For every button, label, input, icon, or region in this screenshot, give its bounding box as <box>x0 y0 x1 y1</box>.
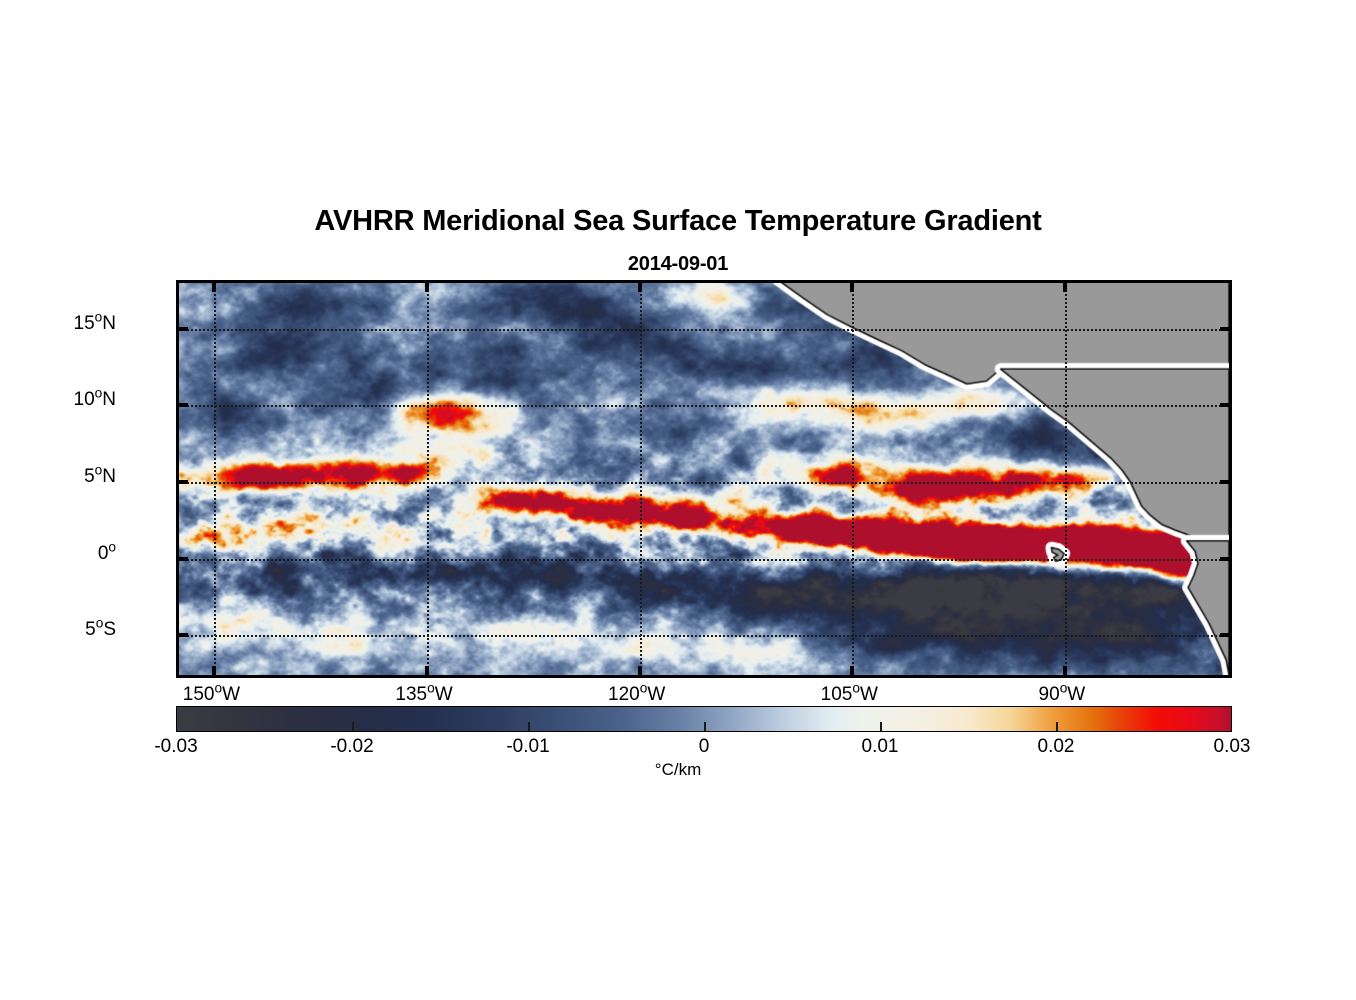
colorbar-tick-label: -0.03 <box>96 736 256 758</box>
y-axis-label: 5oN <box>0 466 116 488</box>
x-tick <box>1063 283 1067 292</box>
y-axis-label: 5oS <box>0 619 116 641</box>
y-tick <box>1220 327 1229 331</box>
colorbar-tick <box>704 722 706 731</box>
colorbar-tick-label: -0.01 <box>448 736 608 758</box>
colorbar-tick <box>528 722 530 731</box>
x-tick <box>425 666 429 675</box>
y-tick <box>179 480 188 484</box>
y-axis-label: 0o <box>0 543 116 565</box>
x-tick <box>425 283 429 292</box>
y-tick <box>179 403 188 407</box>
x-tick <box>212 283 216 292</box>
colorbar-tick-label: 0.01 <box>800 736 960 758</box>
x-axis-label: 105oW <box>789 684 909 706</box>
figure-title: AVHRR Meridional Sea Surface Temperature… <box>0 205 1356 238</box>
colorbar-unit-label: °C/km <box>0 760 1356 780</box>
y-tick <box>179 633 188 637</box>
y-tick <box>179 557 188 561</box>
colorbar <box>176 706 1232 732</box>
y-tick <box>1220 557 1229 561</box>
x-tick <box>1063 666 1067 675</box>
x-tick <box>850 283 854 292</box>
x-axis-label: 135oW <box>364 684 484 706</box>
x-tick <box>638 283 642 292</box>
y-axis-label: 10oN <box>0 389 116 411</box>
x-axis-label: 150oW <box>151 684 271 706</box>
colorbar-tick <box>880 722 882 731</box>
x-axis-label: 90oW <box>1002 684 1122 706</box>
map-axes <box>176 280 1232 678</box>
y-tick <box>179 327 188 331</box>
y-tick <box>1220 403 1229 407</box>
colorbar-tick-label: 0.02 <box>976 736 1136 758</box>
colorbar-tick <box>352 722 354 731</box>
y-axis-label: 15oN <box>0 313 116 335</box>
x-tick <box>850 666 854 675</box>
colorbar-tick-label: -0.02 <box>272 736 432 758</box>
colorbar-tick-label: 0.03 <box>1152 736 1312 758</box>
figure-subtitle: 2014-09-01 <box>0 253 1356 276</box>
x-tick <box>638 666 642 675</box>
x-tick <box>212 666 216 675</box>
sst-gradient-heatmap <box>179 283 1229 675</box>
x-axis-label: 120oW <box>577 684 697 706</box>
colorbar-tick <box>1056 722 1058 731</box>
y-tick <box>1220 633 1229 637</box>
y-tick <box>1220 480 1229 484</box>
colorbar-tick-label: 0 <box>624 736 784 758</box>
